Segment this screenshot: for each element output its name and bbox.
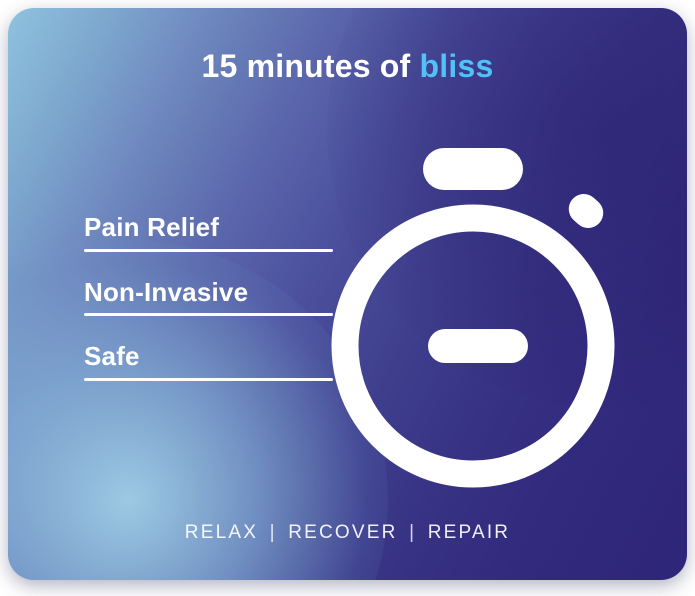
feature-divider: [84, 378, 333, 381]
feature-divider: [84, 249, 333, 252]
list-item: Pain Relief: [84, 213, 344, 252]
headline-prefix: 15 minutes of: [202, 48, 420, 84]
promo-card: 15 minutes of bliss Pain Relief Non-Inva…: [8, 8, 687, 580]
feature-label-pain-relief: Pain Relief: [84, 213, 344, 249]
stopwatch-icon: [318, 128, 638, 488]
list-item: Non-Invasive: [84, 278, 344, 317]
feature-list: Pain Relief Non-Invasive Safe: [84, 213, 344, 407]
feature-label-non-invasive: Non-Invasive: [84, 278, 344, 314]
footer-separator: |: [266, 522, 281, 543]
list-item: Safe: [84, 342, 344, 381]
feature-divider: [84, 313, 333, 316]
footer-item-relax: RELAX: [185, 522, 258, 543]
footer-separator: |: [405, 522, 420, 543]
footer-item-repair: REPAIR: [428, 522, 511, 543]
footer-tagline: RELAX | RECOVER | REPAIR: [8, 522, 687, 544]
page-title: 15 minutes of bliss: [8, 48, 687, 85]
footer-item-recover: RECOVER: [288, 522, 397, 543]
headline-accent: bliss: [420, 48, 494, 84]
stopwatch-graphic: [318, 128, 638, 488]
feature-label-safe: Safe: [84, 342, 344, 378]
